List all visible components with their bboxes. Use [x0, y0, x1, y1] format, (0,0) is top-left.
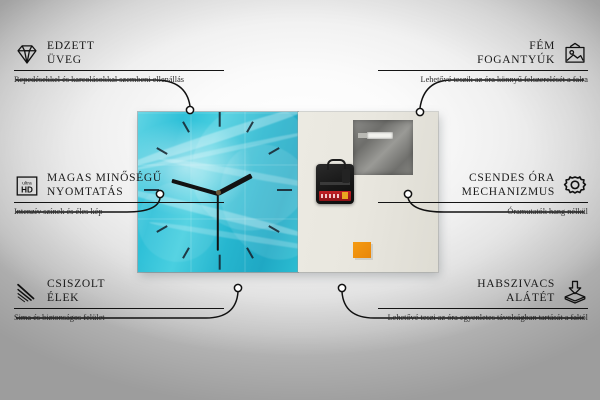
callout-description: Intenzív színek és éles kép	[14, 206, 224, 217]
polished-edges-icon	[14, 280, 40, 304]
callout-metal-handles[interactable]: FÉM FOGANTYÚK Lehetővé teszik az óra kön…	[378, 40, 588, 85]
callout-title-line1: CSENDES ÓRA	[462, 172, 555, 186]
callout-divider	[14, 70, 224, 71]
callout-header: FÉM FOGANTYÚK	[378, 40, 588, 67]
callout-title-line2: MECHANIZMUS	[462, 186, 555, 200]
callout-title-line1: EDZETT	[47, 40, 95, 54]
callout-description: Lehetővé teszi az óra egyenletes távolsá…	[378, 312, 588, 323]
callout-header: CSENDES ÓRA MECHANIZMUS	[378, 172, 588, 199]
infographic-canvas: EDZETT ÜVEG Repedésekkel és karcolásokka…	[0, 0, 600, 400]
picture-hanger-icon	[562, 42, 588, 66]
battery-part	[319, 191, 351, 201]
callout-title-line1: MAGAS MINŐSÉGŰ	[47, 172, 162, 186]
callout-description: Lehetővé teszik az óra könnyű felszerelé…	[378, 74, 588, 85]
callout-divider	[378, 308, 588, 309]
metal-hanger-part	[353, 120, 413, 175]
callout-title-line1: CSISZOLT	[47, 278, 105, 292]
ultra-hd-icon: ultra HD	[14, 174, 40, 198]
battery-label	[321, 194, 341, 198]
callout-divider	[378, 202, 588, 203]
callout-header: CSISZOLT ÉLEK	[14, 278, 224, 305]
callout-foam-pad[interactable]: HABSZIVACS ALÁTÉT Lehetővé teszi az óra …	[378, 278, 588, 323]
callout-title-line2: FOGANTYÚK	[477, 54, 555, 68]
callout-silent-mechanism[interactable]: CSENDES ÓRA MECHANIZMUS Óramutatók hang …	[378, 172, 588, 217]
foam-pad-arrow-icon	[562, 280, 588, 304]
callout-title-line2: ÜVEG	[47, 54, 95, 68]
diamond-icon	[14, 42, 40, 66]
foam-pad-part	[353, 242, 371, 258]
callout-divider	[14, 202, 224, 203]
callout-title-line1: FÉM	[477, 40, 555, 54]
callout-polished-edges[interactable]: CSISZOLT ÉLEK Sima és biztonságos felüle…	[14, 278, 224, 323]
callout-header: HABSZIVACS ALÁTÉT	[378, 278, 588, 305]
hanger-slot	[367, 132, 393, 139]
callout-divider	[14, 308, 224, 309]
callout-header: ultra HD MAGAS MINŐSÉGŰ NYOMTATÁS	[14, 172, 224, 199]
svg-text:HD: HD	[21, 185, 33, 194]
callout-title-line2: NYOMTATÁS	[47, 186, 162, 200]
gear-icon	[562, 174, 588, 198]
callout-high-quality-print[interactable]: ultra HD MAGAS MINŐSÉGŰ NYOMTATÁS Intenz…	[14, 172, 224, 217]
clock-mechanism-part	[316, 164, 354, 204]
mechanism-knob	[342, 169, 350, 183]
callout-description: Óramutatók hang nélkül	[378, 206, 588, 217]
callout-divider	[378, 70, 588, 71]
callout-header: EDZETT ÜVEG	[14, 40, 224, 67]
callout-description: Repedésekkel és karcolásokkal szembeni e…	[14, 74, 224, 85]
callout-title-line1: HABSZIVACS	[477, 278, 555, 292]
callout-title-line2: ÉLEK	[47, 292, 105, 306]
callout-title-line2: ALÁTÉT	[477, 292, 555, 306]
callout-description: Sima és biztonságos felület	[14, 312, 224, 323]
callout-tempered-glass[interactable]: EDZETT ÜVEG Repedésekkel és karcolásokka…	[14, 40, 224, 85]
